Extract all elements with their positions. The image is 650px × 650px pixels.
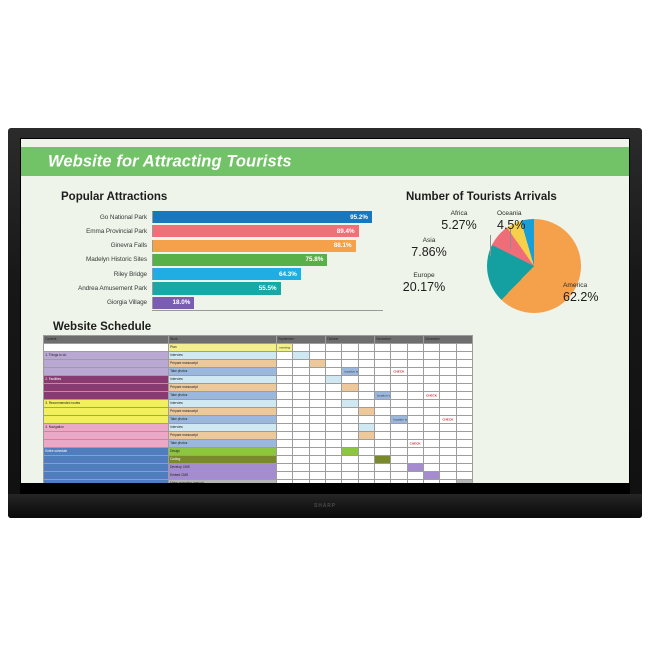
schedule-grid-cell [375, 352, 391, 360]
schedule-row: 1. Things to doInterview [44, 352, 473, 360]
schedule-grid-cell [326, 448, 342, 456]
schedule-grid-cell [277, 448, 293, 456]
bar-row: Emma Provincial Park89.4% [43, 225, 383, 237]
bar-fill: 64.3% [153, 268, 301, 280]
bar-fill: 95.2% [153, 211, 372, 223]
pie-label-asia-name: Asia [399, 238, 459, 245]
schedule-grid-cell [423, 376, 439, 384]
schedule-work-cell: Take photos [168, 416, 276, 424]
schedule-grid-cell [309, 352, 325, 360]
schedule-grid-cell [326, 368, 342, 376]
schedule-grid-cell [407, 368, 423, 376]
schedule-category-cell: 2. Facilities [44, 376, 169, 384]
schedule-grid-cell [407, 360, 423, 368]
bar-fill: 55.5% [153, 282, 281, 294]
bar-value-label: 95.2% [350, 214, 372, 221]
schedule-row: Take photoslocation scouting / photograp… [44, 392, 473, 400]
bar-fill: 89.4% [153, 225, 359, 237]
schedule-category-cell [44, 384, 169, 392]
gantt-bar: location scouting / photographing [391, 416, 407, 423]
schedule-grid-cell [326, 472, 342, 480]
schedule-table-body: Planmeeting1. Things to doInterviewPrepa… [44, 344, 473, 484]
schedule-grid-cell [326, 456, 342, 464]
schedule-row: Develop CMS [44, 464, 473, 472]
schedule-table-head: Content Work September October November … [44, 336, 473, 344]
schedule-grid-cell [277, 456, 293, 464]
schedule-work-cell: Interview [168, 376, 276, 384]
display-monitor: Website for Attracting Tourists Popular … [8, 128, 642, 518]
schedule-grid-cell [277, 440, 293, 448]
schedule-grid-cell [309, 360, 325, 368]
schedule-grid-cell [440, 480, 456, 484]
schedule-grid-cell [456, 400, 472, 408]
schedule-row: Take photoslocation scouting / photograp… [44, 368, 473, 376]
schedule-grid-cell [293, 368, 309, 376]
schedule-grid-cell [440, 432, 456, 440]
schedule-category-cell [44, 360, 169, 368]
pie-label-oceania-value: 4.5% [497, 219, 559, 232]
schedule-grid-cell [391, 352, 407, 360]
schedule-row: 2. FacilitiesInterview [44, 376, 473, 384]
schedule-category-cell: 1. Things to do [44, 352, 169, 360]
schedule-grid-cell [358, 464, 374, 472]
schedule-grid-cell [423, 400, 439, 408]
schedule-grid-cell [375, 424, 391, 432]
schedule-grid-cell [391, 464, 407, 472]
schedule-grid-cell [423, 480, 439, 484]
schedule-grid-cell [391, 448, 407, 456]
gantt-bar: location scouting / photographing [342, 368, 358, 375]
schedule-category-cell [44, 464, 169, 472]
schedule-grid-cell [375, 480, 391, 484]
gantt-bar: meeting [342, 448, 358, 455]
website-schedule-table: Content Work September October November … [43, 335, 473, 483]
schedule-grid-cell [456, 472, 472, 480]
schedule-grid-cell [293, 456, 309, 464]
schedule-grid-cell [326, 384, 342, 392]
schedule-grid-cell [456, 360, 472, 368]
schedule-grid-cell [309, 368, 325, 376]
schedule-work-cell: Make operation manual [168, 480, 276, 484]
schedule-grid-cell [391, 376, 407, 384]
schedule-grid-cell [309, 384, 325, 392]
schedule-grid-cell [375, 472, 391, 480]
popular-attractions-bar-chart: Go National Park95.2%Emma Provincial Par… [43, 211, 383, 311]
gantt-bar: meeting [277, 344, 292, 351]
schedule-grid-cell [309, 480, 325, 484]
schedule-grid-cell [440, 464, 456, 472]
schedule-grid-cell [407, 400, 423, 408]
schedule-category-cell [44, 368, 169, 376]
schedule-grid-cell [440, 400, 456, 408]
bar-label: Madelyn Historic Sites [43, 256, 152, 263]
slide-title-band: Website for Attracting Tourists [21, 147, 629, 176]
schedule-grid-cell [277, 408, 293, 416]
schedule-grid-cell [423, 440, 439, 448]
schedule-grid-cell [407, 480, 423, 484]
schedule-grid-cell [375, 464, 391, 472]
schedule-grid-cell: CHECK [440, 416, 456, 424]
schedule-grid-cell: training [456, 480, 472, 484]
schedule-row: Take photosCHECK [44, 440, 473, 448]
check-marker: CHECK [426, 392, 437, 399]
check-marker: CHECK [393, 368, 404, 375]
bar-chart-axis [152, 310, 383, 311]
bar-value-label: 88.1% [334, 242, 356, 249]
bar-value-label: 64.3% [279, 271, 301, 278]
schedule-grid-cell [293, 352, 309, 360]
schedule-grid-cell [277, 424, 293, 432]
schedule-grid-cell [342, 416, 358, 424]
schedule-work-cell: Take photos [168, 368, 276, 376]
pie-label-europe: Europe 20.17% [389, 273, 459, 293]
schedule-grid-cell [342, 384, 358, 392]
schedule-grid-cell: location scouting / photographing [391, 416, 407, 424]
schedule-row: Prepare manuscript [44, 384, 473, 392]
bar-value-label: 75.8% [305, 256, 327, 263]
gantt-bar [359, 408, 375, 415]
schedule-grid-cell: meeting [342, 448, 358, 456]
schedule-grid-cell [407, 408, 423, 416]
schedule-grid-cell [326, 360, 342, 368]
bar-track: 55.5% [152, 282, 383, 294]
schedule-grid-cell [293, 480, 309, 484]
africa-leader-line [490, 235, 491, 256]
schedule-grid-cell [326, 480, 342, 484]
schedule-grid-cell [277, 432, 293, 440]
schedule-grid-cell [391, 392, 407, 400]
gantt-bar [342, 384, 358, 391]
pie-label-europe-value: 20.17% [389, 281, 459, 294]
schedule-grid-cell [358, 344, 374, 352]
pie-label-africa-value: 5.27% [427, 219, 491, 232]
schedule-grid-cell [391, 360, 407, 368]
schedule-work-cell: Interview [168, 400, 276, 408]
schedule-grid-cell [309, 472, 325, 480]
schedule-grid-cell [277, 464, 293, 472]
bar-fill: 18.0% [153, 297, 194, 309]
schedule-grid-cell [277, 368, 293, 376]
schedule-grid-cell [456, 424, 472, 432]
schedule-grid-cell [293, 464, 309, 472]
schedule-grid-cell [456, 344, 472, 352]
schedule-grid-cell [423, 456, 439, 464]
schedule-grid-cell [309, 448, 325, 456]
schedule-grid-cell [391, 424, 407, 432]
schedule-grid-cell [293, 392, 309, 400]
schedule-grid-cell [326, 400, 342, 408]
pie-label-oceania-name: Oceania [497, 211, 559, 218]
pie-label-asia-value: 7.86% [399, 246, 459, 259]
schedule-heading: Website Schedule [53, 321, 151, 333]
bar-row: Riley Bridge64.3% [43, 268, 383, 280]
gantt-bar: meeting [375, 456, 391, 463]
schedule-grid-cell [456, 464, 472, 472]
schedule-grid-cell [342, 464, 358, 472]
schedule-grid-cell [342, 376, 358, 384]
page-title: Website for Attracting Tourists [48, 152, 292, 171]
schedule-grid-cell [456, 432, 472, 440]
schedule-grid-cell [423, 408, 439, 416]
bar-fill: 75.8% [153, 254, 327, 266]
schedule-grid-cell [423, 384, 439, 392]
schedule-grid-cell: CHECK [423, 472, 439, 480]
schedule-grid-cell [456, 352, 472, 360]
gantt-bar: CHECK [424, 472, 440, 479]
schedule-grid-cell [309, 376, 325, 384]
bar-track: 88.1% [152, 240, 383, 252]
bar-row: Andrea Amusement Park55.5% [43, 282, 383, 294]
schedule-grid-cell [440, 344, 456, 352]
bar-track: 64.3% [152, 268, 383, 280]
bar-track: 75.8% [152, 254, 383, 266]
bar-track: 89.4% [152, 225, 383, 237]
bar-row: Ginevra Falls88.1% [43, 240, 383, 252]
schedule-work-cell: Prepare manuscript [168, 432, 276, 440]
schedule-category-cell [44, 432, 169, 440]
gantt-bar [310, 360, 326, 367]
schedule-th-november: November [375, 336, 424, 344]
schedule-grid-cell [293, 344, 309, 352]
schedule-work-cell: Prepare manuscript [168, 408, 276, 416]
schedule-grid-cell [391, 408, 407, 416]
schedule-grid-cell [407, 352, 423, 360]
schedule-grid-cell [423, 424, 439, 432]
schedule-grid-cell [358, 376, 374, 384]
schedule-category-cell [44, 480, 169, 484]
schedule-grid-cell [293, 440, 309, 448]
schedule-grid-cell [375, 384, 391, 392]
pie-label-africa-name: Africa [427, 211, 491, 218]
schedule-grid-cell [391, 480, 407, 484]
schedule-row: 4. NavigationInterview [44, 424, 473, 432]
schedule-grid-cell [375, 408, 391, 416]
schedule-grid-cell [342, 344, 358, 352]
pie-label-oceania: Oceania 4.5% [497, 211, 559, 231]
schedule-row: Entire scheduleDesignmeeting [44, 448, 473, 456]
schedule-grid-cell [342, 408, 358, 416]
schedule-row: Prepare manuscript [44, 408, 473, 416]
schedule-grid-cell [309, 432, 325, 440]
schedule-grid-cell [358, 392, 374, 400]
schedule-grid-cell [456, 456, 472, 464]
schedule-grid-cell [407, 464, 423, 472]
schedule-grid-cell [423, 464, 439, 472]
schedule-grid-cell [342, 400, 358, 408]
schedule-grid-cell [440, 384, 456, 392]
schedule-grid-cell [375, 376, 391, 384]
schedule-category-cell [44, 408, 169, 416]
schedule-grid-cell [309, 416, 325, 424]
gantt-note: meeting [279, 344, 290, 351]
schedule-grid-cell [342, 456, 358, 464]
bar-fill: 88.1% [153, 240, 356, 252]
attractions-heading: Popular Attractions [61, 191, 167, 203]
schedule-grid-cell [277, 472, 293, 480]
brand-logo: SHARP [314, 503, 336, 509]
schedule-grid-cell [309, 408, 325, 416]
pie-label-europe-name: Europe [389, 273, 459, 280]
schedule-work-cell: Interview [168, 424, 276, 432]
gantt-note: location scouting / photographing [344, 368, 358, 375]
schedule-category-cell: Entire schedule [44, 448, 169, 456]
gantt-bar [326, 376, 341, 383]
schedule-grid-cell [407, 472, 423, 480]
schedule-grid-cell [309, 424, 325, 432]
schedule-grid-cell [293, 400, 309, 408]
gantt-bar: training [457, 480, 472, 483]
schedule-grid-cell [456, 408, 472, 416]
gantt-bar [359, 424, 374, 431]
schedule-grid-cell [342, 360, 358, 368]
gantt-bar: CHECK [424, 392, 439, 399]
schedule-row: Embed CMSCHECK [44, 472, 473, 480]
schedule-th-content: Content [44, 336, 169, 344]
schedule-grid-cell [440, 408, 456, 416]
schedule-work-cell: Prepare manuscript [168, 384, 276, 392]
bar-label: Emma Provincial Park [43, 228, 152, 235]
schedule-grid-cell [293, 432, 309, 440]
schedule-row: Codingmeeting [44, 456, 473, 464]
schedule-grid-cell [342, 392, 358, 400]
schedule-grid-cell [440, 368, 456, 376]
schedule-grid-cell: CHECK [407, 440, 423, 448]
schedule-grid-cell [358, 456, 374, 464]
schedule-grid-cell [293, 424, 309, 432]
gantt-bar: CHECK [440, 416, 455, 423]
schedule-category-cell [44, 416, 169, 424]
schedule-grid-cell [342, 440, 358, 448]
gantt-bar: CHECK [408, 440, 423, 447]
schedule-grid-cell [293, 448, 309, 456]
screen-content: Website for Attracting Tourists Popular … [21, 139, 629, 483]
schedule-grid-cell [391, 472, 407, 480]
schedule-grid-cell [326, 424, 342, 432]
schedule-grid-cell [440, 472, 456, 480]
schedule-grid-cell [358, 448, 374, 456]
schedule-grid-cell [440, 424, 456, 432]
schedule-grid-cell [423, 368, 439, 376]
schedule-grid-cell [326, 352, 342, 360]
schedule-grid-cell [375, 440, 391, 448]
gantt-bar [293, 352, 308, 359]
schedule-grid-cell [440, 456, 456, 464]
schedule-grid-cell [407, 448, 423, 456]
gantt-note: location scouting / photographing [393, 416, 407, 423]
schedule-grid-cell [309, 464, 325, 472]
schedule-work-cell: Embed CMS [168, 472, 276, 480]
schedule-grid-cell [375, 432, 391, 440]
schedule-grid-cell [293, 376, 309, 384]
gantt-bar: CHECK [391, 368, 406, 375]
schedule-grid-cell [407, 344, 423, 352]
schedule-grid-cell [342, 472, 358, 480]
schedule-grid-cell [423, 352, 439, 360]
gantt-note: training [459, 480, 469, 483]
gantt-note: location scouting / photographing [377, 392, 391, 399]
schedule-grid-cell [326, 376, 342, 384]
schedule-grid-cell [358, 432, 374, 440]
schedule-grid-cell [440, 440, 456, 448]
schedule-grid-cell [358, 384, 374, 392]
schedule-grid-cell: meeting [277, 344, 293, 352]
schedule-grid-cell [456, 384, 472, 392]
bar-label: Giorgia Village [43, 299, 152, 306]
schedule-grid-cell [277, 416, 293, 424]
bar-track: 95.2% [152, 211, 383, 223]
schedule-grid-cell [440, 376, 456, 384]
schedule-grid-cell [407, 432, 423, 440]
bar-value-label: 55.5% [259, 285, 281, 292]
schedule-grid-cell [375, 360, 391, 368]
schedule-row: 3. Recommended routesInterview [44, 400, 473, 408]
schedule-grid-cell [277, 384, 293, 392]
schedule-header-row: Content Work September October November … [44, 336, 473, 344]
schedule-grid-cell [358, 368, 374, 376]
schedule-grid-cell [456, 392, 472, 400]
check-marker: CHECK [410, 440, 421, 447]
schedule-grid-cell [277, 392, 293, 400]
schedule-category-cell [44, 472, 169, 480]
schedule-grid-cell [293, 408, 309, 416]
schedule-grid-cell: location scouting / photographing [342, 368, 358, 376]
schedule-grid-cell [423, 344, 439, 352]
schedule-work-cell: Take photos [168, 440, 276, 448]
schedule-grid-cell [309, 344, 325, 352]
schedule-work-cell: Coding [168, 456, 276, 464]
schedule-grid-cell [358, 416, 374, 424]
schedule-grid-cell [440, 360, 456, 368]
schedule-grid-cell [456, 368, 472, 376]
schedule-grid-cell [277, 352, 293, 360]
schedule-grid-cell [440, 392, 456, 400]
schedule-grid-cell [277, 480, 293, 484]
schedule-row: Planmeeting [44, 344, 473, 352]
schedule-row: Prepare manuscript [44, 432, 473, 440]
monitor-bottom-bar: SHARP [8, 494, 642, 518]
schedule-grid-cell [391, 456, 407, 464]
schedule-grid-cell [391, 440, 407, 448]
schedule-grid-cell [293, 384, 309, 392]
pie-label-africa: Africa 5.27% [427, 211, 491, 231]
schedule-work-cell: Take photos [168, 392, 276, 400]
bar-label: Ginevra Falls [43, 242, 152, 249]
schedule-grid-cell [342, 432, 358, 440]
bar-label: Riley Bridge [43, 271, 152, 278]
schedule-row: Prepare manuscript [44, 360, 473, 368]
schedule-grid-cell: CHECK [423, 392, 439, 400]
bar-value-label: 89.4% [337, 228, 359, 235]
schedule-category-cell: 3. Recommended routes [44, 400, 169, 408]
schedule-grid-cell: meeting [375, 456, 391, 464]
schedule-grid-cell [407, 384, 423, 392]
schedule-grid-cell [326, 344, 342, 352]
schedule-grid-cell [326, 392, 342, 400]
schedule-grid-cell [358, 424, 374, 432]
bar-label: Andrea Amusement Park [43, 285, 152, 292]
tourist-arrivals-pie-chart: Africa 5.27% Oceania 4.5% Asia 7.86% Eur… [389, 205, 625, 317]
schedule-grid-cell [375, 416, 391, 424]
schedule-th-september: September [277, 336, 326, 344]
schedule-grid-cell [391, 344, 407, 352]
schedule-grid-cell [309, 456, 325, 464]
schedule-grid-cell [407, 416, 423, 424]
schedule-grid-cell [358, 472, 374, 480]
schedule-category-cell [44, 344, 169, 352]
schedule-grid-cell [407, 376, 423, 384]
schedule-work-cell: Prepare manuscript [168, 360, 276, 368]
schedule-grid-cell [423, 416, 439, 424]
